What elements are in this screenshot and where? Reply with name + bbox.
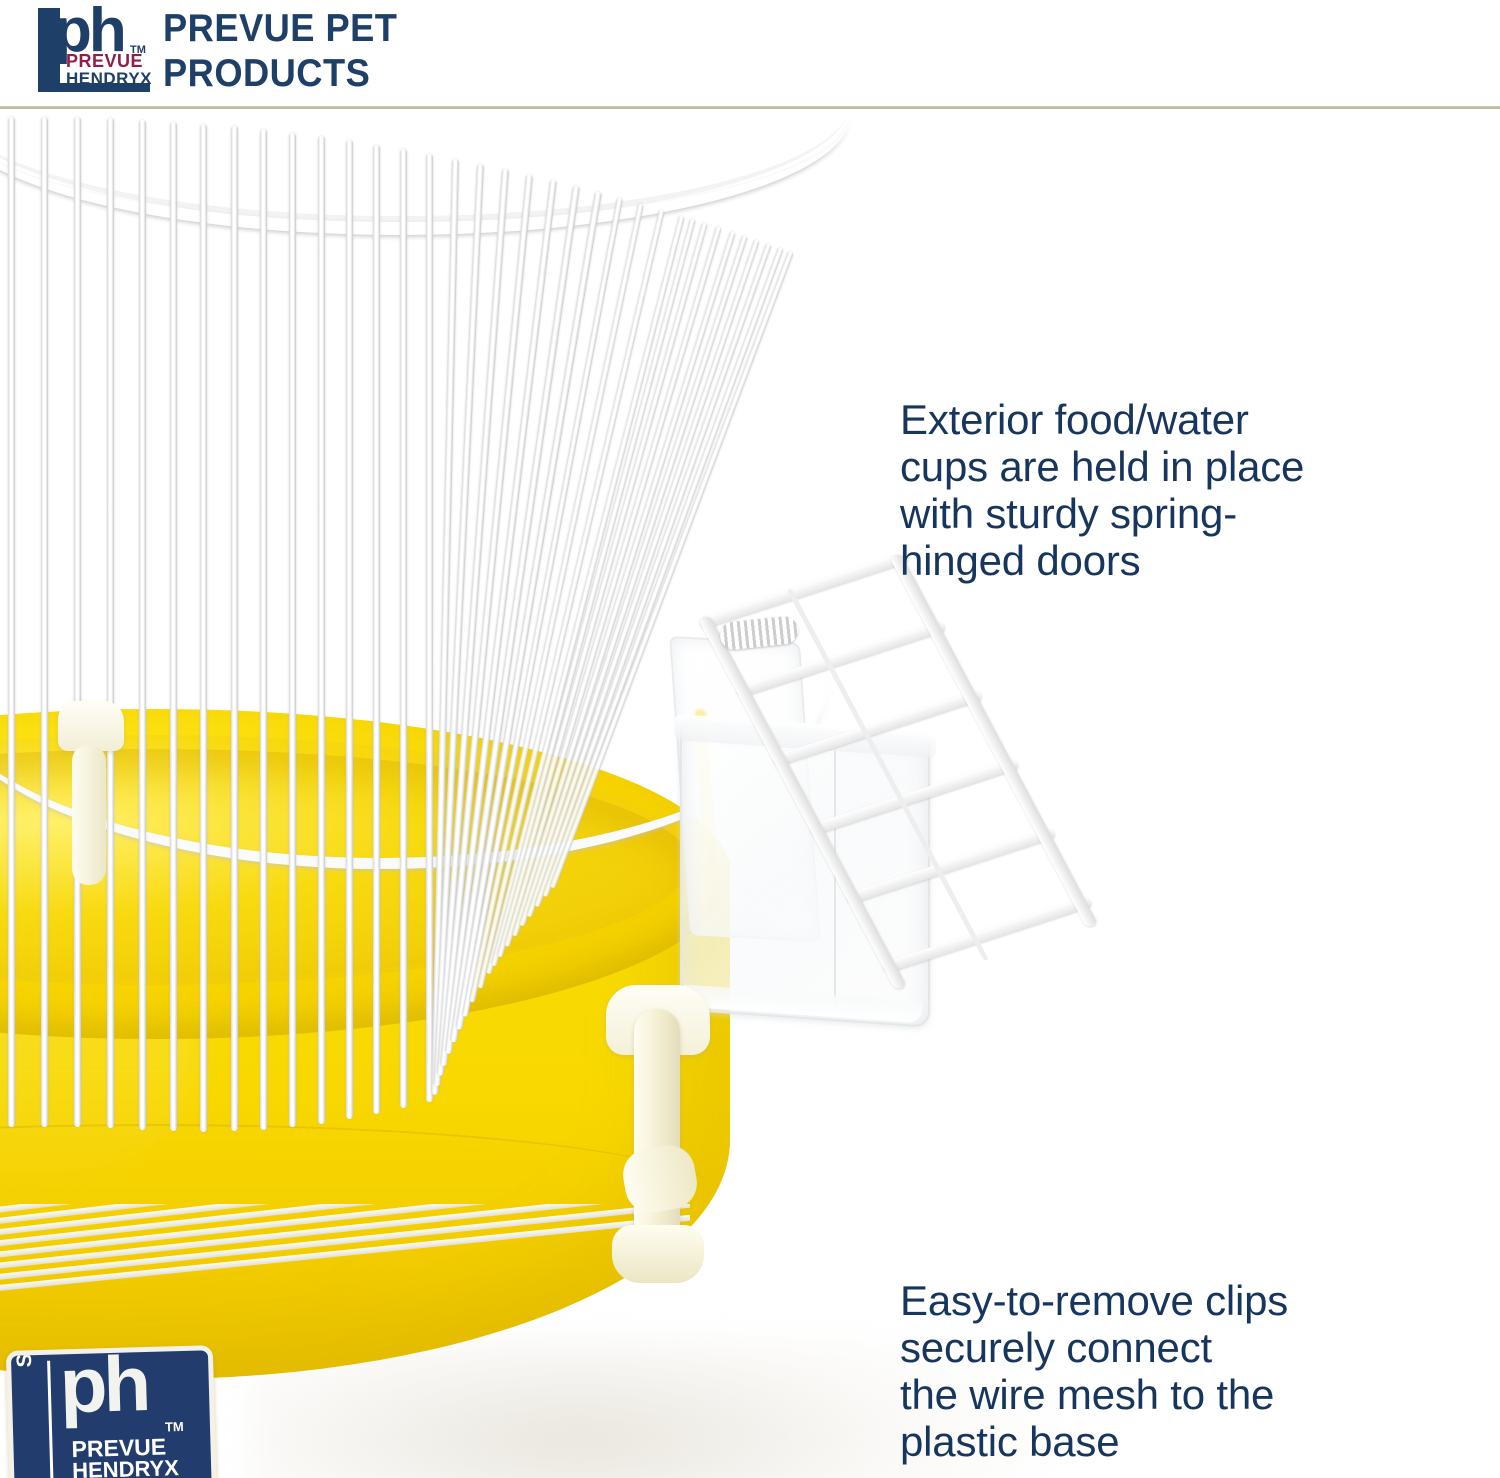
cage-wire: [107, 118, 114, 1128]
brand-header: ph TM PREVUE HENDRYX PREVUE PET PRODUCTS: [0, 0, 1500, 108]
clip-knee: [619, 1141, 701, 1217]
cage-wire: [231, 126, 238, 1131]
brand-wordmark: PREVUE PET PRODUCTS: [163, 6, 397, 96]
cage-wire: [346, 140, 353, 1119]
logo-hendryx-text: HENDRYX: [66, 70, 152, 87]
cage-wire: [318, 136, 325, 1123]
logo-prevue-text: PREVUE: [66, 52, 143, 70]
clip-stem: [72, 745, 106, 885]
cage-wire: [289, 133, 296, 1127]
cage-wire: [8, 117, 15, 1127]
white-plastic-clip-secondary: [58, 701, 124, 881]
white-plastic-clip-primary: [600, 979, 716, 1279]
cage-wire: [139, 120, 146, 1130]
cage-wire: [74, 117, 81, 1127]
cage-wire: [426, 154, 433, 1102]
cage-wire: [200, 124, 207, 1132]
product-badge-label: Since 1869 ph TM PREVUE HENDRYX www.prev…: [6, 1345, 217, 1478]
cage-wire: [260, 129, 267, 1129]
clip-head: [58, 701, 124, 751]
badge-hendryx-text: HENDRYX: [72, 1457, 179, 1478]
cage-wire: [400, 149, 407, 1108]
clip-foot: [612, 1225, 704, 1283]
badge-vertical-rule: [47, 1361, 54, 1478]
cage-wire: [41, 117, 48, 1127]
caption-easy-remove-clips: Easy-to-remove clips securely connect th…: [900, 1277, 1460, 1465]
door-rung: [881, 896, 1093, 973]
prevue-hendryx-logo: ph TM PREVUE HENDRYX: [38, 8, 150, 92]
cage-wire: [373, 145, 380, 1115]
header-divider: [0, 106, 1500, 109]
badge-trademark-icon: TM: [165, 1419, 184, 1435]
product-photo: Since 1869 ph TM PREVUE HENDRYX www.prev…: [0, 109, 1500, 1478]
caption-exterior-cups: Exterior food/water cups are held in pla…: [900, 396, 1460, 584]
clip-stem: [634, 1009, 680, 1259]
cage-ring-upper: [0, 109, 850, 235]
badge-ph-text: ph: [59, 1345, 148, 1424]
cage-wire: [170, 122, 177, 1132]
